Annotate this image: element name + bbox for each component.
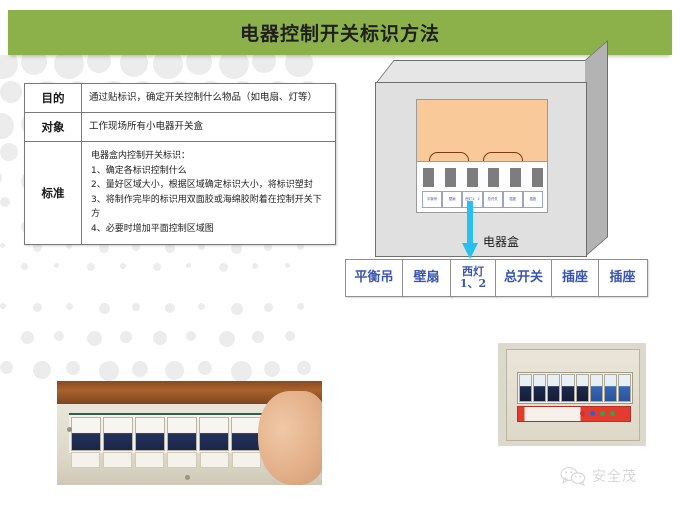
electrical-box-diagram: 平衡吊 壁扇 西灯1、2 总开关 插座 插座 电器盒 [375, 60, 625, 255]
photo-breaker [590, 374, 603, 402]
photo-breaker [167, 417, 197, 451]
watermark: 安全茂 [560, 466, 637, 486]
photo-label-strip [517, 406, 631, 422]
photo-indicator [610, 411, 615, 416]
tag-label-socket-2: 插座 [598, 259, 648, 297]
photo-breaker [231, 417, 261, 451]
slide-page: 电器控制开关标识方法 目的 通过贴标识，确定开关控制什么物品（如电扇、灯等） 对… [0, 0, 680, 516]
spec-value-purpose: 通过贴标识，确定开关控制什么物品（如电扇、灯等） [82, 84, 336, 113]
photo-panel-body [506, 349, 640, 441]
table-row: 标准 电器盒内控制开关标识： 1、确定各标识控制什么 2、量好区域大小，根据区域… [25, 142, 336, 245]
page-title: 电器控制开关标识方法 [240, 19, 440, 46]
photo-breaker [561, 374, 574, 402]
photo-label [232, 452, 261, 468]
photo-panel-with-hand [57, 381, 322, 485]
switch-row [423, 168, 543, 188]
switch-block [510, 168, 521, 187]
standard-line: 2、量好区域大小，根据区域确定标识大小，将标识塑封 [91, 178, 328, 193]
switch-block [488, 168, 499, 187]
switch-block [467, 168, 478, 187]
photo-screw [185, 475, 190, 480]
tag-label-main-switch: 总开关 [495, 259, 553, 297]
box-inner-panel [416, 99, 548, 162]
photo-breaker-row [517, 372, 633, 404]
photo-breaker [618, 374, 631, 402]
photo-breaker [604, 374, 617, 402]
photo-indicator [590, 411, 595, 416]
box-side-face [585, 40, 608, 257]
tag-label-balance-crane: 平衡吊 [345, 259, 403, 297]
mini-tag: 平衡吊 [422, 191, 442, 208]
mini-tag: 壁扇 [442, 191, 462, 208]
tag-line-1: 平衡吊 [354, 271, 393, 285]
down-arrow-icon [462, 201, 478, 259]
spec-key-standard: 标准 [25, 142, 82, 245]
photo-breaker [199, 417, 229, 451]
standard-line: 4、必要时增加平面控制区域图 [91, 222, 328, 237]
tag-line-1: 总开关 [504, 271, 543, 285]
switch-block [445, 168, 456, 187]
standard-line: 3、将制作完毕的标识用双面胶或海绵胶附着在控制开关下方 [91, 193, 328, 222]
photo-screw [67, 427, 72, 432]
photo-indicator [580, 411, 585, 416]
tag-line-1: 插座 [562, 271, 588, 285]
tag-label-wall-fan: 壁扇 [402, 259, 452, 297]
spec-value-target: 工作现场所有小电器开关盒 [82, 113, 336, 142]
photo-breaker [547, 374, 560, 402]
standard-line: 电器盒内控制开关标识： [91, 149, 328, 164]
photo-breaker [103, 417, 133, 451]
photo-indicator [600, 411, 605, 416]
switch-panel: 平衡吊 壁扇 西灯1、2 总开关 插座 插座 [416, 161, 548, 213]
tag-line-1: 插座 [609, 271, 635, 285]
mini-tag: 总开关 [483, 191, 503, 208]
photo-panel-labeled [498, 343, 646, 446]
photo-breaker [135, 417, 165, 451]
watermark-text: 安全茂 [592, 466, 637, 486]
box-caption: 电器盒 [483, 233, 519, 250]
photo-label [200, 452, 229, 468]
photo-breaker [576, 374, 589, 402]
spec-value-standard: 电器盒内控制开关标识： 1、确定各标识控制什么 2、量好区域大小，根据区域确定标… [82, 142, 336, 245]
spec-table: 目的 通过贴标识，确定开关控制什么物品（如电扇、灯等） 对象 工作现场所有小电器… [24, 83, 336, 245]
tag-label-socket-1: 插座 [551, 259, 599, 297]
photo-hand [258, 391, 322, 485]
table-row: 目的 通过贴标识，确定开关控制什么物品（如电扇、灯等） [25, 84, 336, 113]
standard-line: 1、确定各标识控制什么 [91, 164, 328, 179]
photo-label [167, 452, 196, 468]
photo-label [103, 452, 132, 468]
photo-breaker [519, 374, 532, 402]
tag-line-2: 1、2 [460, 278, 486, 290]
photo-label [71, 452, 100, 468]
photo-breaker [71, 417, 101, 451]
switch-block [532, 168, 543, 187]
wechat-icon [560, 466, 586, 486]
switch-block [423, 168, 434, 187]
spec-key-target: 对象 [25, 113, 82, 142]
tag-label-west-lights: 西灯 1、2 [450, 259, 496, 297]
title-banner: 电器控制开关标识方法 [8, 10, 672, 55]
enlarged-tag-strip: 平衡吊 壁扇 西灯 1、2 总开关 插座 插座 [345, 259, 646, 297]
tag-line-1: 壁扇 [413, 271, 439, 285]
spec-key-purpose: 目的 [25, 84, 82, 113]
mini-tag: 插座 [503, 191, 523, 208]
mini-tag: 插座 [523, 191, 543, 208]
mini-tag-row: 平衡吊 壁扇 西灯1、2 总开关 插座 插座 [422, 191, 543, 208]
photo-breaker [533, 374, 546, 402]
box-front-face: 平衡吊 壁扇 西灯1、2 总开关 插座 插座 电器盒 [375, 82, 587, 257]
table-row: 对象 工作现场所有小电器开关盒 [25, 113, 336, 142]
box-top-face [375, 60, 606, 84]
photo-label [135, 452, 164, 468]
